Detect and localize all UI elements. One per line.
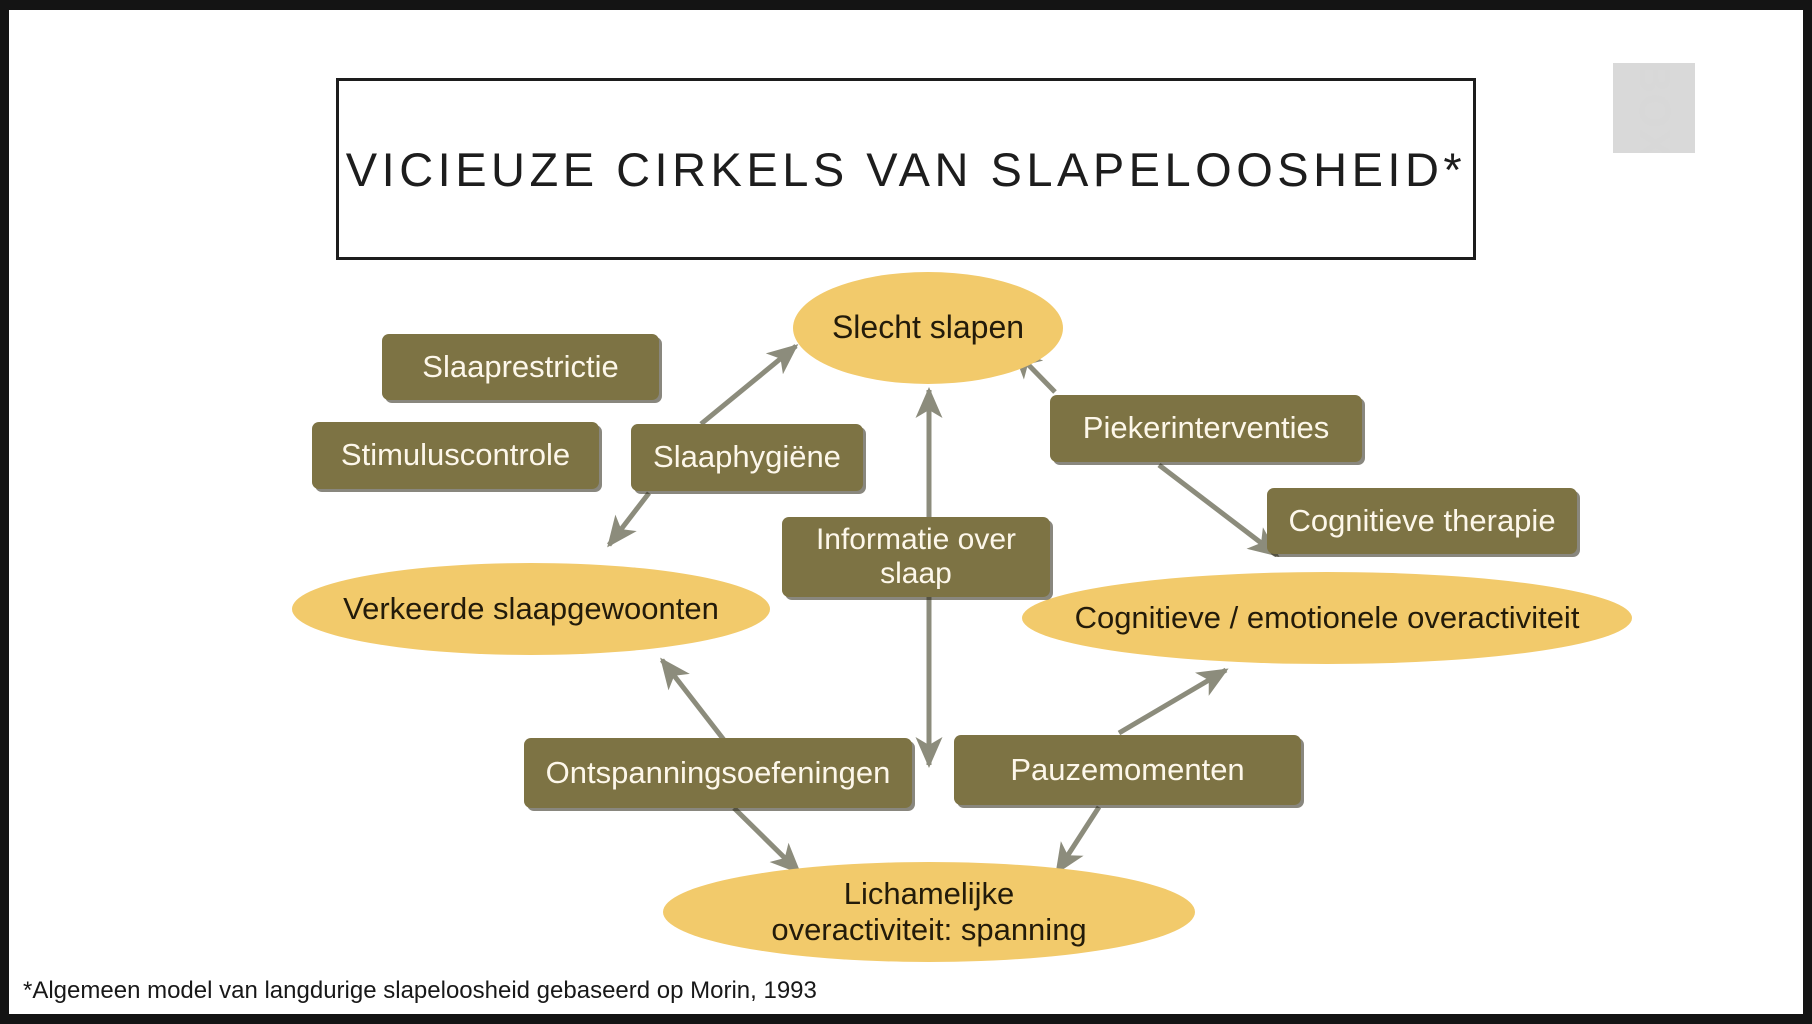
- node-label: Pauzemomenten: [1010, 753, 1244, 788]
- slide-canvas: VICIEUZE CIRKELS VAN SLAPELOOSHEID* BOX …: [9, 10, 1803, 1014]
- node-verkeerde-slaapgewoonten[interactable]: Verkeerde slaapgewoonten: [292, 563, 770, 655]
- node-stimuluscontrole[interactable]: Stimuluscontrole: [312, 422, 599, 489]
- node-slaaprestrictie[interactable]: Slaaprestrictie: [382, 334, 659, 400]
- footnote: *Algemeen model van langdurige slapeloos…: [23, 977, 817, 1005]
- node-cognitieve-emotionele-overactiviteit[interactable]: Cognitieve / emotionele overactiviteit: [1022, 572, 1632, 664]
- arrow-ontspanning-to-lichamelijke: [734, 808, 799, 872]
- node-label-line2: slaap: [880, 557, 952, 590]
- box-logo: BOX: [1613, 63, 1695, 153]
- node-label: Stimuluscontrole: [341, 438, 570, 473]
- node-piekerinterventies[interactable]: Piekerinterventies: [1050, 395, 1362, 462]
- logo-label: BOX: [1631, 63, 1677, 153]
- node-slaaphygiene[interactable]: Slaaphygiëne: [631, 424, 863, 491]
- node-label: Slecht slapen: [832, 309, 1024, 346]
- node-label: Lichamelijke overactiviteit: spanning: [771, 876, 1086, 948]
- arrow-slaaphygiene-to-verkeerde: [609, 493, 649, 545]
- node-label: Verkeerde slaapgewoonten: [343, 591, 719, 627]
- node-label: Slaaphygiëne: [653, 440, 841, 475]
- node-ontspanningsoefeningen[interactable]: Ontspanningsoefeningen: [524, 738, 912, 808]
- node-label-line1: Informatie over: [816, 523, 1016, 556]
- node-label-line1: Lichamelijke: [844, 876, 1015, 911]
- node-pauzemomenten[interactable]: Pauzemomenten: [954, 735, 1301, 805]
- node-lichamelijke-overactiviteit[interactable]: Lichamelijke overactiviteit: spanning: [663, 862, 1195, 962]
- arrow-pauzemomenten-to-cognitieve-emo: [1119, 670, 1226, 733]
- node-slecht-slapen[interactable]: Slecht slapen: [793, 272, 1063, 384]
- page-title: VICIEUZE CIRKELS VAN SLAPELOOSHEID*: [339, 81, 1473, 257]
- node-label: Ontspanningsoefeningen: [546, 756, 891, 791]
- node-label: Informatie over slaap: [816, 523, 1016, 590]
- arrow-pauzemomenten-to-lichamelijke: [1057, 807, 1099, 872]
- title-box: VICIEUZE CIRKELS VAN SLAPELOOSHEID*: [336, 78, 1476, 260]
- node-label: Cognitieve / emotionele overactiviteit: [1075, 600, 1580, 636]
- node-label: Slaaprestrictie: [422, 350, 618, 385]
- node-informatie-over-slaap[interactable]: Informatie over slaap: [782, 517, 1050, 597]
- logo-mask: BOX: [1613, 63, 1695, 153]
- node-label: Cognitieve therapie: [1288, 504, 1555, 539]
- arrow-ontspanning-to-verkeerde: [662, 660, 724, 740]
- node-cognitieve-therapie[interactable]: Cognitieve therapie: [1267, 488, 1577, 554]
- node-label-line2: overactiviteit: spanning: [771, 912, 1086, 947]
- arrow-piekerinterventies-to-cognitieve-therapie: [1159, 465, 1277, 555]
- node-label: Piekerinterventies: [1083, 411, 1329, 446]
- arrow-slaaphygiene-to-slecht-slapen: [701, 346, 796, 424]
